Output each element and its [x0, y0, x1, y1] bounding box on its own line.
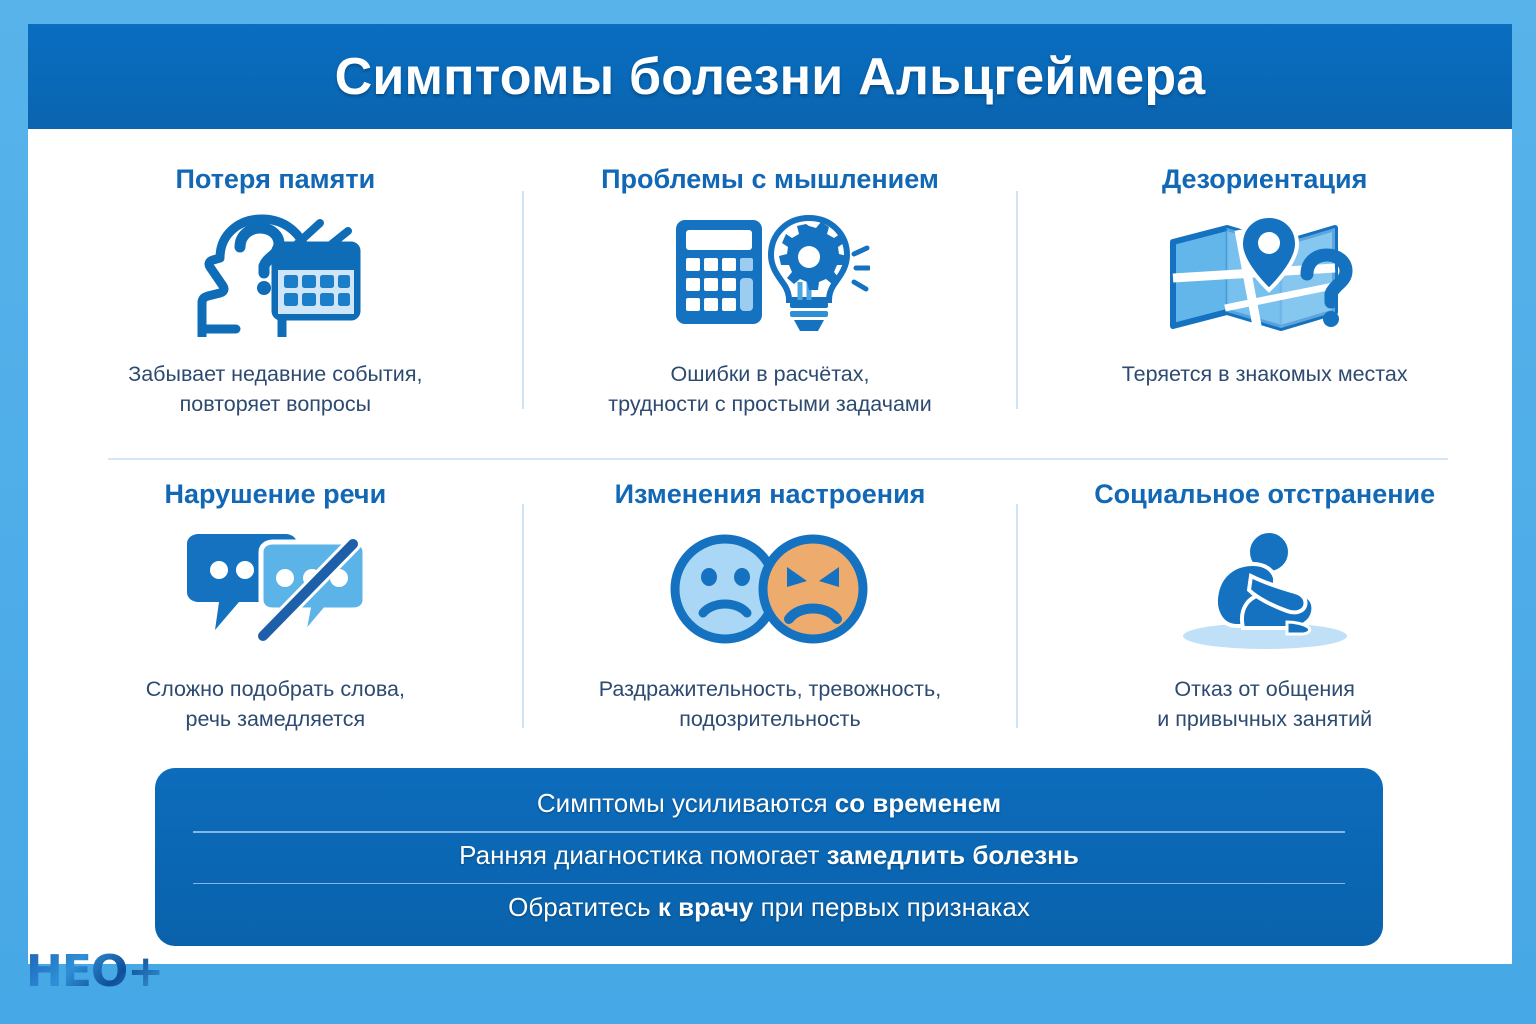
- key-message-2-plain: Ранняя диагностика помогает: [459, 840, 827, 870]
- key-message-2-strong: замедлить болезнь: [827, 840, 1079, 870]
- header-banner: Симптомы болезни Альцгеймера: [28, 24, 1512, 129]
- key-message-3-plain: Обратитесь: [508, 892, 658, 922]
- symptom-description-line2: речь замедляется: [186, 707, 366, 731]
- speech-bubbles-slash-icon: [175, 526, 375, 654]
- symptom-row-1: Потеря памяти: [28, 129, 1512, 444]
- symptom-description-line1: Теряется в знакомых местах: [1122, 362, 1408, 386]
- key-message-1: Симптомы усиливаются со временем: [155, 779, 1383, 831]
- grid-divider-vertical: [522, 504, 524, 728]
- symptom-row-2: Нарушение речи: [28, 454, 1512, 769]
- symptom-description-line1: Забывает недавние события,: [128, 362, 422, 386]
- symptom-title: Потеря памяти: [175, 165, 375, 195]
- sitting-person-icon: [1165, 526, 1365, 654]
- key-message-3-tail: при первых признаках: [753, 892, 1029, 922]
- symptom-description-line1: Отказ от общения: [1174, 677, 1355, 701]
- grid-divider-vertical: [1016, 191, 1018, 409]
- key-message-2: Ранняя диагностика помогает замедлить бо…: [155, 831, 1383, 883]
- symptom-grid: Потеря памяти: [28, 129, 1512, 759]
- symptom-description-line2: трудности с простыми задачами: [608, 392, 931, 416]
- symptom-description-line2: подозрительность: [679, 707, 860, 731]
- symptom-description: Теряется в знакомых местах: [1122, 359, 1408, 390]
- symptom-description-line1: Сложно подобрать слова,: [146, 677, 405, 701]
- sad-angry-faces-icon: [667, 526, 873, 654]
- symptom-card-disorientation[interactable]: Дезориентация: [1017, 129, 1512, 444]
- symptom-card-mood-changes[interactable]: Изменения настроения: [523, 454, 1018, 769]
- head-question-calendar-icon: [180, 209, 370, 339]
- symptom-description-line1: Ошибки в расчётах,: [671, 362, 870, 386]
- key-message-1-plain: Симптомы усиливаются: [537, 788, 835, 818]
- symptom-description: Ошибки в расчётах, трудности с простыми …: [608, 359, 931, 420]
- symptom-title: Проблемы с мышлением: [601, 165, 939, 195]
- symptom-description: Сложно подобрать слова, речь замедляется: [146, 674, 405, 735]
- symptom-title: Изменения настроения: [615, 480, 926, 510]
- symptom-description-line2: повторяет вопросы: [180, 392, 371, 416]
- calculator-lightbulb-gear-icon: [670, 209, 870, 339]
- symptom-description: Отказ от общения и привычных занятий: [1157, 674, 1372, 735]
- symptom-description: Забывает недавние события, повторяет воп…: [128, 359, 422, 420]
- key-message-3: Обратитесь к врачу при первых признаках: [155, 883, 1383, 935]
- symptom-description-line1: Раздражительность, тревожность,: [599, 677, 941, 701]
- grid-divider-vertical: [522, 191, 524, 409]
- symptom-title: Социальное отстранение: [1094, 480, 1435, 510]
- page-title: Симптомы болезни Альцгеймера: [335, 47, 1206, 107]
- symptom-card-speech-impairment[interactable]: Нарушение речи: [28, 454, 523, 769]
- symptom-description-line2: и привычных занятий: [1157, 707, 1372, 731]
- brand-logo: НЕО+: [26, 950, 163, 994]
- key-message-3-strong: к врачу: [658, 892, 753, 922]
- symptom-card-memory-loss[interactable]: Потеря памяти: [28, 129, 523, 444]
- symptom-description: Раздражительность, тревожность, подозрит…: [599, 674, 941, 735]
- symptom-card-thinking-problems[interactable]: Проблемы с мышлением: [523, 129, 1018, 444]
- symptom-card-social-withdrawal[interactable]: Социальное отстранение: [1017, 454, 1512, 769]
- key-message-1-strong: со временем: [835, 788, 1001, 818]
- key-messages-panel: Симптомы усиливаются со временем Ранняя …: [155, 768, 1383, 946]
- grid-divider-vertical: [1016, 504, 1018, 728]
- infographic-poster: Симптомы болезни Альцгеймера Потеря памя…: [0, 0, 1536, 1024]
- symptom-title: Дезориентация: [1162, 165, 1367, 195]
- map-pin-question-icon: [1165, 209, 1365, 339]
- symptom-title: Нарушение речи: [164, 480, 386, 510]
